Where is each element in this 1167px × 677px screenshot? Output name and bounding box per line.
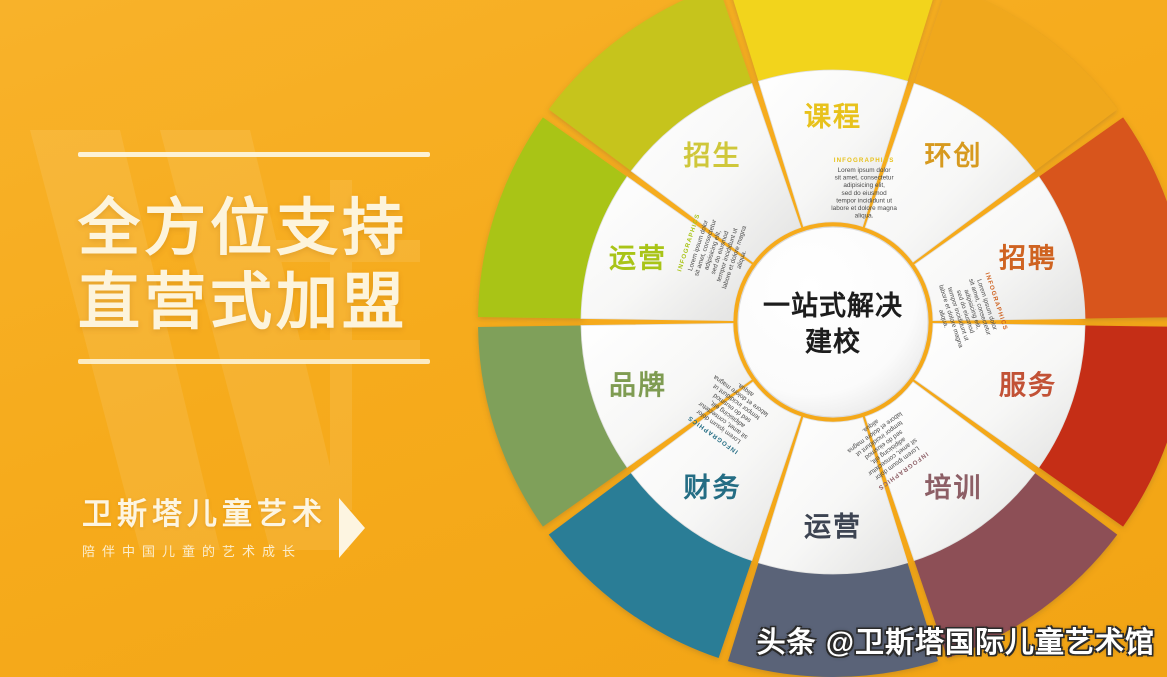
- hub-line-1: 一站式解决: [763, 291, 903, 321]
- info-body-line-2-6: aliqua.: [855, 213, 874, 220]
- play-arrow-icon: [339, 498, 365, 558]
- wheel-segment-label-0: 运营: [609, 244, 667, 274]
- wheel-segment-label-4: 招聘: [999, 244, 1057, 274]
- info-body-line-2-0: Lorem ipsum dolor: [838, 167, 892, 174]
- wheel-segment-label-8: 财务: [684, 473, 742, 503]
- channel-watermark: 头条 @卫斯塔国际儿童艺术馆: [757, 619, 1155, 661]
- info-body-line-2-5: labore et dolore magna: [831, 205, 897, 212]
- wheel-segment-label-3: 环创: [925, 141, 983, 171]
- wheel-segment-label-5: 服务: [999, 370, 1057, 400]
- wheel-segment-label-1: 招生: [684, 141, 742, 171]
- poster-canvas: 全方位支持 直营式加盟 卫斯塔儿童艺术 陪伴中国儿童的艺术成长: [0, 0, 1167, 677]
- brand-lockup: 卫斯塔儿童艺术 陪伴中国儿童的艺术成长: [82, 496, 365, 560]
- headline-line-2: 直营式加盟: [78, 267, 498, 341]
- headline-rule-bottom: [78, 359, 430, 364]
- headline-block: 全方位支持 直营式加盟: [78, 152, 498, 364]
- headline-rule-top: [78, 152, 430, 157]
- wheel-hub[interactable]: [738, 227, 928, 417]
- info-heading-2: INFOGRAPHICS: [834, 157, 895, 164]
- info-body-line-2-3: sed do eiusmod: [842, 190, 888, 197]
- hub-line-2: 建校: [805, 326, 861, 357]
- brand-tagline: 陪伴中国儿童的艺术成长: [82, 541, 327, 560]
- wheel-segment-label-2: 课程: [804, 102, 862, 132]
- info-body-line-2-2: adipisicing elit,: [843, 182, 885, 189]
- page-title: 全方位支持 直营式加盟: [78, 193, 498, 341]
- wheel-segment-label-9: 品牌: [609, 370, 667, 400]
- brand-text: 卫斯塔儿童艺术 陪伴中国儿童的艺术成长: [82, 496, 327, 560]
- headline-line-1: 全方位支持: [78, 193, 498, 267]
- wheel-segment-label-6: 培训: [925, 473, 983, 503]
- radial-wheel-diagram: 运营INFOGRAPHICSLorem ipsum dolorsit amet,…: [473, 0, 1167, 677]
- brand-name: 卫斯塔儿童艺术: [82, 496, 327, 534]
- wheel-segment-label-7: 运营: [804, 512, 862, 542]
- info-body-line-2-4: tempor incididunt ut: [836, 197, 892, 204]
- info-body-line-2-1: sit amet, consectetur: [835, 175, 895, 182]
